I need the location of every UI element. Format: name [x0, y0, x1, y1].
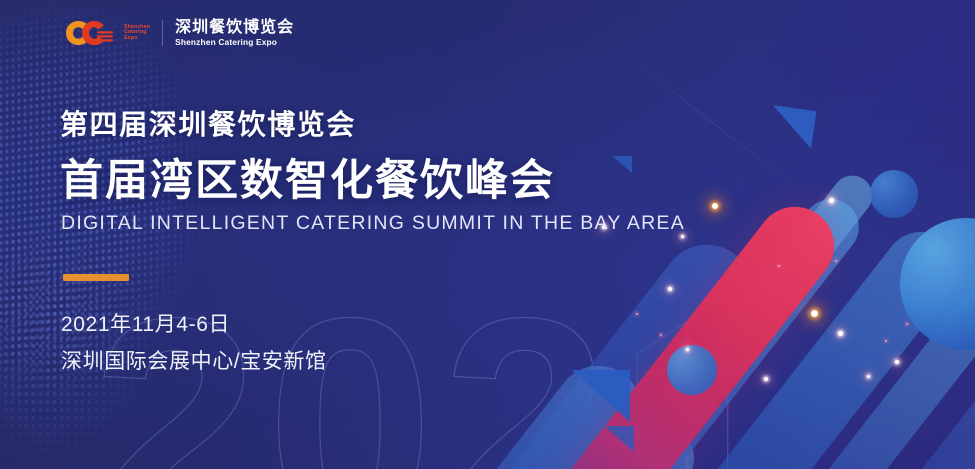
logo-divider [162, 20, 163, 46]
sphere-large [900, 218, 975, 350]
triangle-shape-4-icon [604, 426, 634, 452]
triangle-shape-2-icon [612, 156, 632, 173]
glow-dot-tiny-4 [885, 340, 887, 342]
diagonal-bar-blue-6 [806, 311, 975, 469]
event-date: 2021年11月4-6日 [61, 308, 230, 338]
sphere-medium [667, 345, 717, 395]
event-banner: 2021 [0, 0, 975, 469]
subtitle-english: DIGITAL INTELLIGENT CATERING SUMMIT IN T… [61, 212, 685, 235]
diagonal-bar-blue-4 [625, 217, 973, 469]
glow-dot-tiny-1 [835, 260, 837, 262]
logo-name-en: Shenzhen Catering Expo [175, 37, 294, 48]
glow-dot-white-6 [668, 287, 672, 291]
glow-dot-orange-1 [712, 203, 718, 209]
glow-dot-tiny-3 [636, 313, 638, 315]
headline-secondary: 首届湾区数智化餐饮峰会 [60, 146, 555, 208]
glow-dot-white-7 [686, 348, 689, 351]
glow-dot-tiny-2 [778, 265, 780, 267]
logo-lockup: Shenzhen Catering Expo 深圳餐饮博览会 Shenzhen … [63, 18, 294, 48]
headline-primary: 第四届深圳餐饮博览会 [60, 103, 356, 143]
glow-dot-white-8 [764, 377, 768, 381]
glow-dot-white-4 [838, 331, 843, 336]
glow-dot-white-3 [681, 235, 684, 238]
glow-dot-tiny-5 [906, 323, 908, 325]
sphere-small [870, 170, 918, 218]
orange-divider-rule [63, 274, 129, 281]
logo-mark-caption: Shenzhen Catering Expo [124, 25, 150, 42]
event-venue: 深圳国际会展中心/宝安新馆 [61, 345, 327, 375]
glow-dot-white-5 [895, 360, 899, 364]
logo-caption-line-3: Expo [124, 36, 150, 42]
sweep-line-2 [656, 195, 925, 405]
triangle-shape-1-icon [768, 105, 817, 149]
glow-dot-tiny-6 [660, 334, 662, 336]
diagonal-bar-blue-8 [471, 411, 708, 469]
glow-dot-white-9 [867, 375, 870, 378]
glow-dot-white-1 [829, 198, 834, 203]
shenzhen-catering-expo-logo-icon [63, 18, 115, 48]
diagonal-bar-blue-5 [711, 281, 975, 469]
triangle-shape-3-icon [572, 370, 630, 422]
diagonal-bar-blue-7 [388, 349, 659, 469]
sweep-line-1 [591, 28, 828, 213]
logo-name-cn: 深圳餐饮博览会 [175, 19, 294, 37]
glow-dot-orange-2 [811, 310, 818, 317]
logo-wordmark: 深圳餐饮博览会 Shenzhen Catering Expo [175, 19, 294, 47]
diagonal-bar-blue-1 [440, 226, 771, 469]
